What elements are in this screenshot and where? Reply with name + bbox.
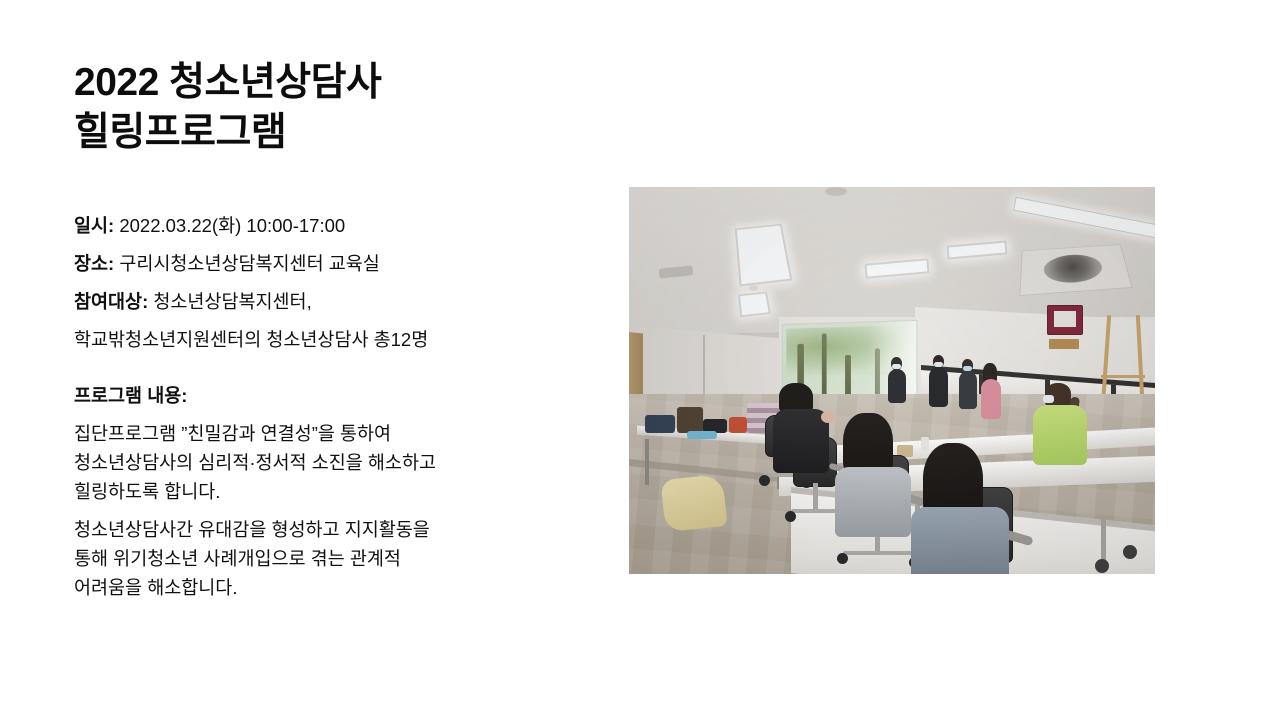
- title-line-2: 힐링프로그램: [74, 108, 594, 158]
- side-table-bag-2: [677, 407, 703, 433]
- info-value-participants-line2: 학교밖청소년지원센터의 청소년상담사 총12명: [74, 329, 428, 350]
- standing-person-3-torso: [959, 371, 977, 409]
- seated-person-lime-torso: [1033, 405, 1087, 465]
- office-chair-3-base: [843, 551, 917, 555]
- office-chair-1-wheel-1: [759, 475, 770, 486]
- info-row-date: 일시: 2022.03.22(화) 10:00-17:00: [74, 207, 594, 245]
- seated-person-black-hand: [821, 411, 835, 423]
- info-row-place: 장소: 구리시청소년상담복지센터 교육실: [74, 245, 594, 283]
- side-table-bag-1: [645, 415, 675, 433]
- office-chair-2-post: [813, 483, 818, 511]
- page-title: 2022 청소년상담사 힐링프로그램: [74, 58, 594, 158]
- air-conditioner-diffuser: [1019, 244, 1133, 296]
- table-caster-2: [1123, 545, 1137, 559]
- standing-person-1-torso: [888, 369, 906, 403]
- paragraph-1-line-2: 청소년상담사의 심리적·정서적 소진을 해소하고: [74, 448, 554, 477]
- info-value-date: 2022.03.22(화) 10:00-17:00: [119, 215, 345, 236]
- paragraph-2-line-1: 청소년상담사간 유대감을 형성하고 지지활동을: [74, 515, 554, 544]
- side-table-item-blue: [687, 431, 717, 439]
- paragraph-2-line-2: 통해 위기청소년 사례개입으로 겪는 관계적: [74, 544, 554, 573]
- photo-scene: [629, 187, 1155, 574]
- paragraph-2-line-3: 어려움을 해소합니다.: [74, 573, 554, 602]
- seated-person-gray-torso: [835, 467, 911, 537]
- program-content-heading: 프로그램 내용:: [74, 381, 187, 411]
- side-table-item-red: [729, 417, 747, 433]
- info-label-date: 일시:: [74, 215, 114, 236]
- info-label-participants: 참여대상:: [74, 291, 148, 312]
- title-line-1: 2022 청소년상담사: [74, 58, 594, 108]
- standing-person-4-torso: [981, 379, 1001, 419]
- ceiling-sprinkler-icon: [825, 187, 847, 196]
- info-row-participants-cont: 학교밖청소년지원센터의 청소년상담사 총12명: [74, 321, 594, 359]
- info-row-participants: 참여대상: 청소년상담복지센터,: [74, 283, 594, 321]
- info-value-participants: 청소년상담복지센터,: [153, 291, 311, 312]
- table-leg-1: [1101, 517, 1106, 563]
- paragraph-1-line-1: 집단프로그램 ”친밀감과 연결성”을 통하여: [74, 419, 554, 448]
- fire-alarm-panel: [1047, 305, 1083, 335]
- wooden-wall-sign: [1049, 339, 1079, 349]
- seated-person-blue-torso: [911, 507, 1009, 574]
- standing-person-2-torso: [929, 367, 948, 407]
- slide-canvas: 2022 청소년상담사 힐링프로그램 일시: 2022.03.22(화) 10:…: [0, 0, 1280, 720]
- ceiling-led-panel-light-2: [738, 292, 771, 318]
- ceiling-sprinkler-small-icon: [749, 285, 758, 291]
- seated-person-lime-mask: [1043, 395, 1054, 403]
- table-item-cup: [921, 437, 929, 451]
- info-list: 일시: 2022.03.22(화) 10:00-17:00 장소: 구리시청소년…: [74, 207, 594, 359]
- program-paragraph-2: 청소년상담사간 유대감을 형성하고 지지활동을 통해 위기청소년 사례개입으로 …: [74, 515, 554, 602]
- info-value-place: 구리시청소년상담복지센터 교육실: [119, 253, 379, 274]
- side-table-leg-left: [645, 439, 649, 485]
- office-chair-3-wheel-1: [837, 553, 848, 564]
- paragraph-1-line-3: 힐링하도록 합니다.: [74, 477, 554, 506]
- table-caster-1: [1095, 559, 1109, 573]
- info-label-place: 장소:: [74, 253, 114, 274]
- program-photo: [629, 187, 1155, 574]
- office-chair-2-wheel-1: [785, 511, 796, 522]
- program-paragraph-1: 집단프로그램 ”친밀감과 연결성”을 통하여 청소년상담사의 심리적·정서적 소…: [74, 419, 554, 506]
- yellow-bag-on-floor: [660, 474, 727, 532]
